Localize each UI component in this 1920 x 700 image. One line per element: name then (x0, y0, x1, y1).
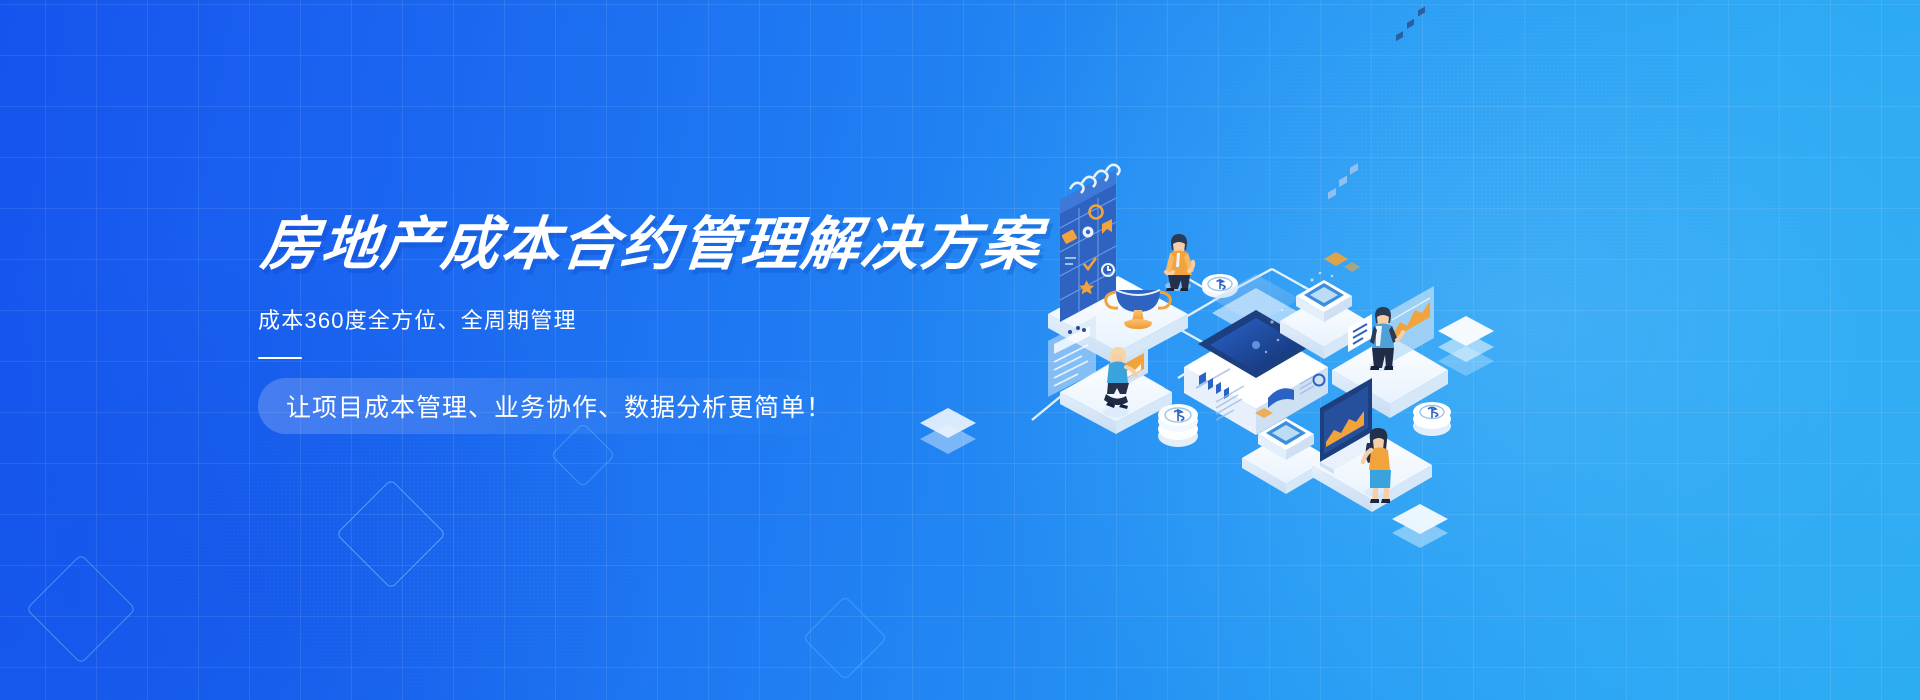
standing-man-orange-jacket (1165, 234, 1194, 291)
floating-card-stack-left (920, 408, 976, 454)
floating-card-stack-bottom (1392, 504, 1448, 548)
hero-divider (258, 357, 302, 359)
hero-subtitle: 成本360度全方位、全周期管理 (258, 303, 1018, 335)
hero-banner: 房地产成本合约管理解决方案 成本360度全方位、全周期管理 让项目成本管理、业务… (0, 0, 1920, 700)
dollar-coin-right (1413, 402, 1451, 436)
hero-copy-block: 房地产成本合约管理解决方案 成本360度全方位、全周期管理 (258, 214, 1018, 359)
diamond-outline-1 (26, 554, 136, 664)
dollar-coin-bottom (1158, 404, 1198, 447)
chart-screen (1388, 6, 1434, 364)
hero-title: 房地产成本合约管理解决方案 (258, 214, 1024, 275)
hero-tagline-pill: 让项目成本管理、业务协作、数据分析更简单！ (258, 378, 858, 434)
diamond-outline-2 (336, 479, 446, 589)
diamond-outline-4 (803, 596, 888, 681)
hero-tagline-text: 让项目成本管理、业务协作、数据分析更简单！ (286, 388, 832, 424)
floating-card-stack-right (1438, 316, 1494, 376)
